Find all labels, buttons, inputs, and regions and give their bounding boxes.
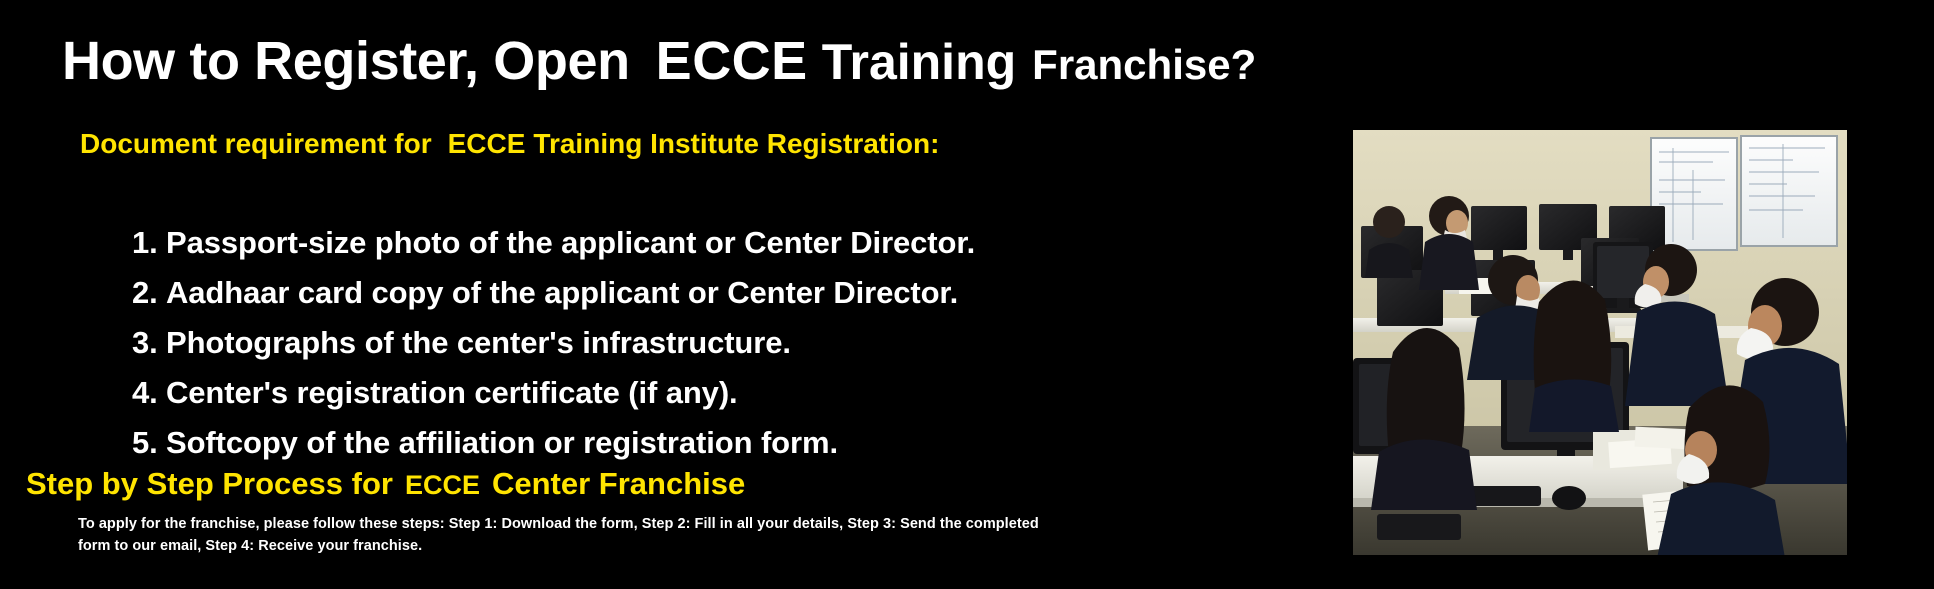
list-item: 2.Aadhaar card copy of the applicant or … (132, 268, 975, 318)
list-item: 3.Photographs of the center's infrastruc… (132, 318, 975, 368)
list-item-label: Center's registration certificate (if an… (166, 375, 738, 410)
list-item-number: 5. (132, 418, 166, 468)
step-process-heading: Step by Step Process for ECCE Center Fra… (26, 468, 745, 499)
subtitle-brand: ECCE (448, 130, 526, 158)
student-long-hair-center (1529, 280, 1619, 432)
list-item-label: Passport-size photo of the applicant or … (166, 225, 975, 260)
classroom-photo (1353, 130, 1847, 555)
steps-paragraph: To apply for the franchise, please follo… (78, 513, 1068, 558)
list-item-label: Softcopy of the affiliation or registrat… (166, 425, 838, 460)
step-heading-part2: Center Franchise (492, 468, 745, 499)
page-title-part1: How to Register, Open (62, 34, 630, 88)
document-requirement-subtitle: Document requirement for ECCE Training I… (80, 130, 939, 158)
list-item-label: Aadhaar card copy of the applicant or Ce… (166, 275, 958, 310)
list-item: 5.Softcopy of the affiliation or registr… (132, 418, 975, 468)
list-item-number: 1. (132, 218, 166, 268)
list-item-number: 4. (132, 368, 166, 418)
subtitle-part2: Training Institute Registration: (533, 130, 939, 158)
slide-root: How to Register, Open ECCE Training Fran… (0, 0, 1934, 589)
step-heading-part1: Step by Step Process for (26, 468, 393, 499)
list-item-label: Photographs of the center's infrastructu… (166, 325, 791, 360)
list-item-number: 3. (132, 318, 166, 368)
page-title-brand: ECCE (656, 34, 808, 88)
page-title-part2: Training (822, 37, 1016, 87)
document-requirements-list: 1.Passport-size photo of the applicant o… (132, 218, 975, 468)
subtitle-part1: Document requirement for (80, 130, 432, 158)
list-item-number: 2. (132, 268, 166, 318)
page-title-part3: Franchise? (1032, 44, 1256, 86)
list-item: 4.Center's registration certificate (if … (132, 368, 975, 418)
classroom-photo-illustration (1353, 130, 1847, 555)
step-heading-brand: ECCE (405, 472, 480, 499)
list-item: 1.Passport-size photo of the applicant o… (132, 218, 975, 268)
whiteboard-group (1651, 136, 1837, 250)
page-title: How to Register, Open ECCE Training Fran… (62, 34, 1256, 88)
